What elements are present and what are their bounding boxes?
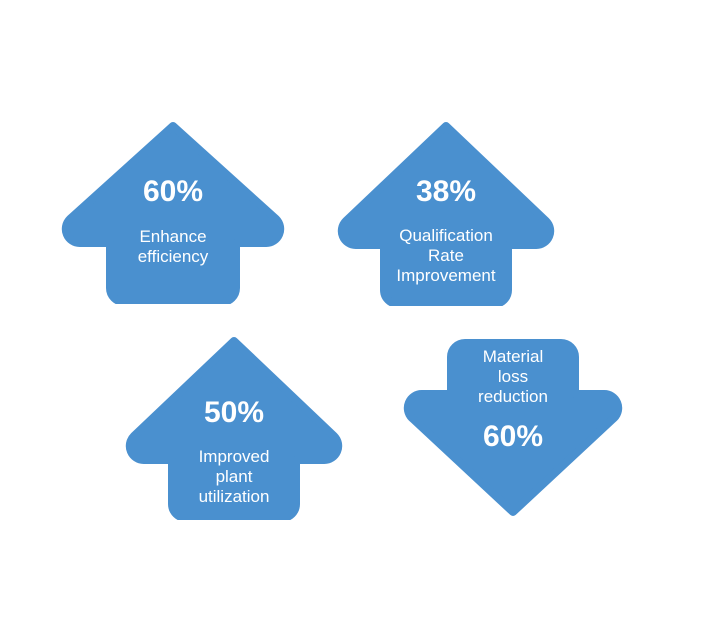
- arrow-label-line: utilization: [124, 487, 344, 507]
- arrow-percent-value: 50%: [124, 395, 344, 430]
- arrow-label-line: Material: [402, 347, 624, 367]
- arrow-percent-value: 60%: [60, 174, 286, 209]
- arrow-label-line: Qualification: [336, 226, 556, 246]
- arrow-label-line: plant: [124, 467, 344, 487]
- arrow-card-enhance-efficiency[interactable]: 60% Enhance efficiency: [60, 122, 286, 304]
- arrow-label: Qualification Rate Improvement: [336, 226, 556, 286]
- arrow-label: Enhance efficiency: [60, 227, 286, 267]
- arrow-label: Material loss reduction: [402, 347, 624, 407]
- arrow-label-line: efficiency: [60, 247, 286, 267]
- arrow-label-line: Improved: [124, 447, 344, 467]
- arrow-label-line: Improvement: [336, 266, 556, 286]
- arrow-card-improved-plant-utilization[interactable]: 50% Improved plant utilization: [124, 337, 344, 520]
- arrow-percent-value: 38%: [336, 174, 556, 209]
- arrow-label-line: Enhance: [60, 227, 286, 247]
- arrow-card-material-loss-reduction[interactable]: Material loss reduction 60%: [402, 339, 624, 516]
- arrow-label-line: Rate: [336, 246, 556, 266]
- infographic-canvas: 60% Enhance efficiency 38% Qualification…: [0, 0, 728, 634]
- up-arrow-icon: [60, 122, 286, 304]
- arrow-label-line: loss: [402, 367, 624, 387]
- arrow-percent-value: 60%: [402, 419, 624, 454]
- arrow-card-qualification-rate-improvement[interactable]: 38% Qualification Rate Improvement: [336, 122, 556, 306]
- arrow-label: Improved plant utilization: [124, 447, 344, 507]
- arrow-label-line: reduction: [402, 387, 624, 407]
